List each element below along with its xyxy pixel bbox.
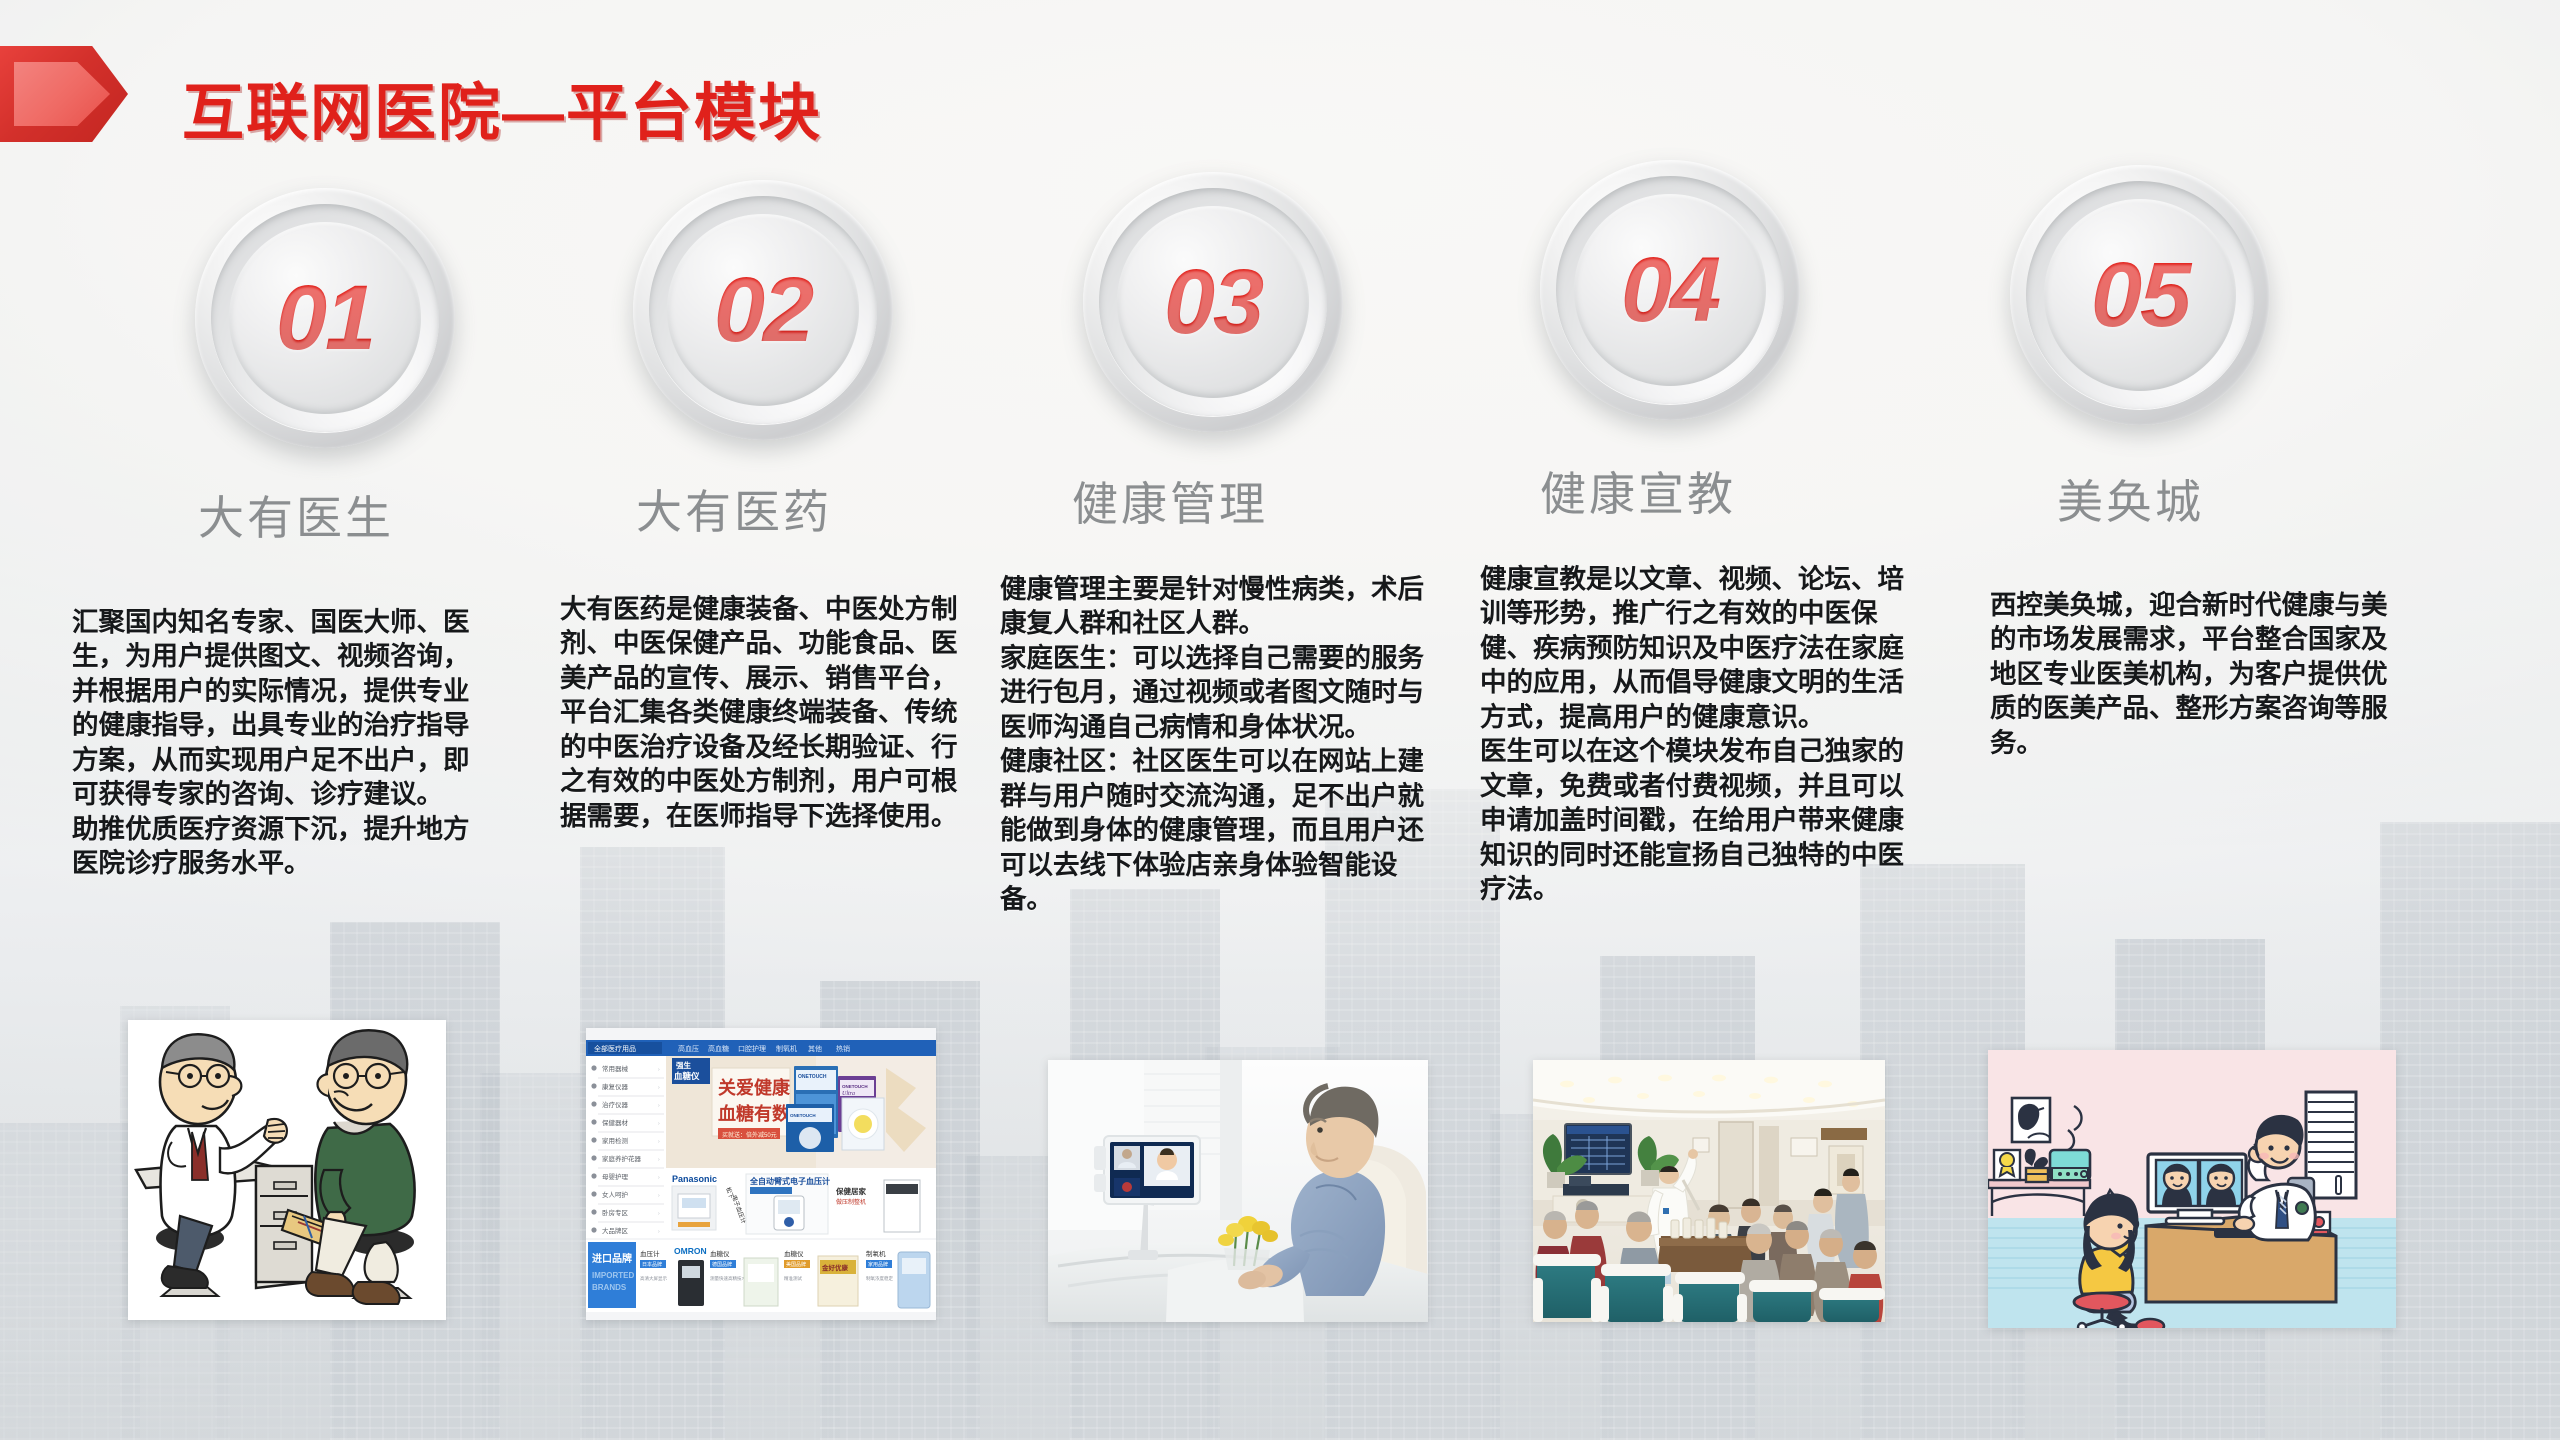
online-consultation-illustration: [1988, 1050, 2396, 1328]
svg-text:金好优康: 金好优康: [821, 1263, 849, 1272]
svg-text:女人呵护: 女人呵护: [602, 1190, 628, 1199]
module-label-3: 健康管理: [1072, 468, 1268, 534]
svg-text:强生: 强生: [676, 1060, 691, 1070]
badge-number-05: 05: [2010, 165, 2270, 425]
svg-text:测量快速高精技术: 测量快速高精技术: [710, 1275, 746, 1282]
module-label-5: 美奂城: [2057, 466, 2204, 532]
svg-text:热销: 热销: [836, 1044, 850, 1053]
svg-text:德国品牌: 德国品牌: [712, 1261, 732, 1268]
svg-text:其他: 其他: [808, 1044, 822, 1053]
module-label-2: 大有医药: [636, 476, 832, 542]
svg-text:治疗仪器: 治疗仪器: [602, 1100, 629, 1109]
module-body-3: 健康管理主要是针对慢性病类，术后康复人群和社区人群。 家庭医生：可以选择自己需要…: [1000, 572, 1425, 916]
svg-text:制氧机: 制氧机: [866, 1249, 886, 1258]
badge-05[interactable]: 05: [2010, 165, 2270, 425]
badge-number-02: 02: [633, 180, 893, 440]
svg-text:关爱健康: 关爱健康: [718, 1077, 791, 1098]
health-lecture-seminar-photo: [1533, 1060, 1885, 1322]
badge-number-04: 04: [1540, 160, 1800, 420]
bedside-telemedicine-photo: [1048, 1060, 1428, 1322]
svg-text:血糖仪: 血糖仪: [710, 1249, 730, 1258]
svg-text:口腔护理: 口腔护理: [738, 1044, 766, 1053]
svg-text:母婴护理: 母婴护理: [602, 1172, 629, 1181]
svg-text:OMRON: OMRON: [674, 1246, 707, 1256]
module-body-4: 健康宣教是以文章、视频、论坛、培训等形势，推广行之有效的中医保健、疾病预防知识及…: [1480, 562, 1905, 906]
svg-text:精准测试: 精准测试: [784, 1275, 802, 1282]
svg-text:制氧机: 制氧机: [776, 1044, 797, 1053]
module-label-4: 健康宣教: [1540, 458, 1736, 524]
svg-text:血糖有数: 血糖有数: [718, 1103, 791, 1124]
badge-01[interactable]: 01: [195, 188, 455, 448]
svg-text:ONETOUCH: ONETOUCH: [842, 1084, 868, 1089]
svg-text:日本品牌: 日本品牌: [642, 1261, 662, 1268]
svg-text:全部医疗用品: 全部医疗用品: [594, 1044, 636, 1053]
svg-text:Panasonic: Panasonic: [672, 1174, 717, 1184]
svg-text:进口品牌: 进口品牌: [592, 1252, 632, 1265]
svg-text:制氧浓度稳定: 制氧浓度稳定: [866, 1275, 893, 1282]
svg-text:高清大屏显示: 高清大屏显示: [640, 1275, 667, 1282]
svg-text:康复仪器: 康复仪器: [602, 1082, 629, 1091]
svg-text:IMPORTED: IMPORTED: [592, 1271, 634, 1280]
medical-device-ecommerce-screenshot: 全部医疗用品 高血压 高血糖 口腔护理 制氧机 其他 热销 常用器械康复仪器 治…: [586, 1028, 936, 1320]
svg-text:大品牌区: 大品牌区: [602, 1226, 629, 1235]
svg-text:保健居家: 保健居家: [835, 1186, 866, 1196]
svg-text:ONETOUCH: ONETOUCH: [798, 1074, 827, 1080]
svg-text:Ultra: Ultra: [842, 1091, 855, 1097]
svg-text:血糖仪: 血糖仪: [674, 1071, 700, 1081]
svg-text:高血压: 高血压: [678, 1044, 699, 1053]
badge-number-01: 01: [195, 188, 455, 448]
svg-text:血糖仪: 血糖仪: [784, 1249, 804, 1258]
badge-04[interactable]: 04: [1540, 160, 1800, 420]
svg-text:做压制整机: 做压制整机: [836, 1198, 866, 1206]
svg-text:美国品牌: 美国品牌: [786, 1261, 806, 1268]
module-body-2: 大有医药是健康装备、中医处方制剂、中医保健产品、功能食品、医美产品的宣传、展示、…: [560, 592, 980, 833]
module-body-5: 西控美奂城，迎合新时代健康与美的市场发展需求，平台整合国家及地区专业医美机构，为…: [1990, 588, 2390, 760]
doctor-patient-consultation-illustration: [128, 1020, 446, 1320]
svg-text:家庭养护花器: 家庭养护花器: [602, 1154, 642, 1163]
svg-text:保健器材: 保健器材: [602, 1118, 629, 1127]
module-label-1: 大有医生: [198, 482, 394, 548]
svg-text:买就送：倍外减50元: 买就送：倍外减50元: [722, 1131, 777, 1139]
badge-02[interactable]: 02: [633, 180, 893, 440]
svg-text:全自动臂式电子血压计: 全自动臂式电子血压计: [749, 1176, 830, 1186]
module-body-1: 汇聚国内知名专家、国医大师、医生，为用户提供图文、视频咨询，并根据用户的实际情况…: [72, 605, 492, 881]
svg-text:血压计: 血压计: [640, 1249, 660, 1258]
svg-text:卧房专区: 卧房专区: [602, 1208, 629, 1217]
badge-number-03: 03: [1083, 172, 1343, 432]
module-columns: 01 大有医生 汇聚国内知名专家、国医大师、医生，为用户提供图文、视频咨询，并根…: [0, 0, 2560, 1440]
svg-text:常用器械: 常用器械: [602, 1064, 629, 1073]
badge-03[interactable]: 03: [1083, 172, 1343, 432]
svg-text:家用检测: 家用检测: [602, 1136, 629, 1145]
svg-text:ONETOUCH: ONETOUCH: [790, 1113, 816, 1118]
svg-text:BRANDS: BRANDS: [592, 1283, 627, 1292]
svg-text:家用品牌: 家用品牌: [868, 1261, 888, 1268]
svg-text:高血糖: 高血糖: [708, 1044, 729, 1053]
